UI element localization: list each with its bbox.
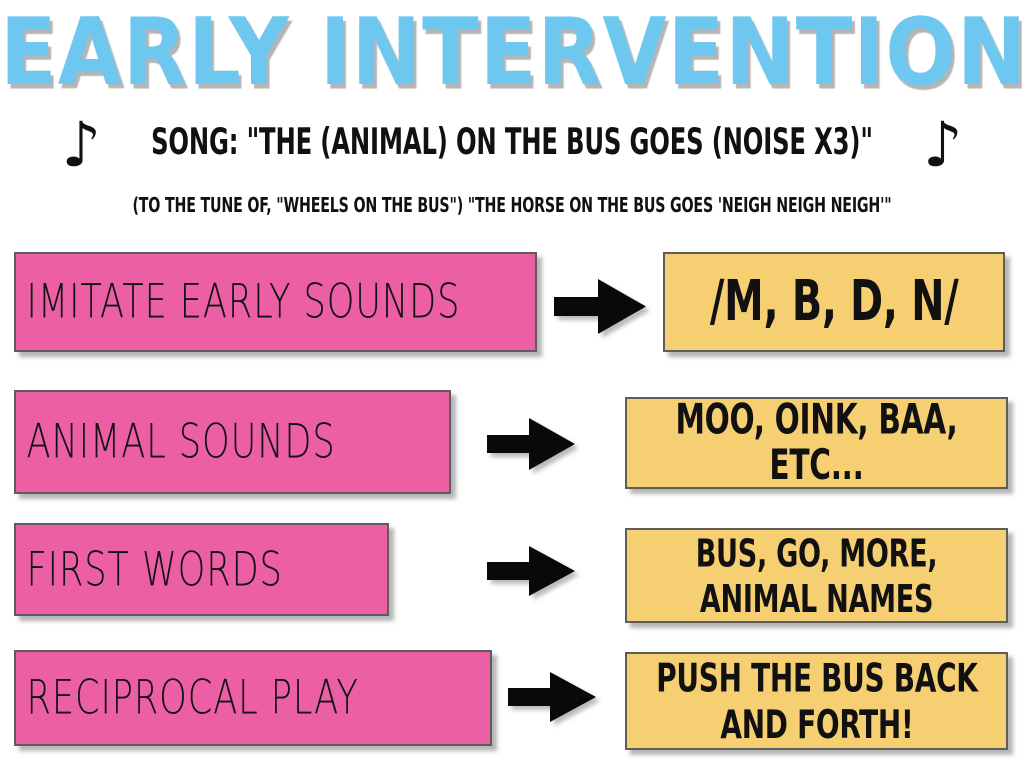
skill-box: ANIMAL SOUNDS xyxy=(14,390,451,494)
poster-header: EARLY INTERVENTION ♪ SONG: "THE (ANIMAL)… xyxy=(0,0,1024,240)
target-box: MOO, OINK, BAA, ETC... xyxy=(625,397,1008,489)
target-label: PUSH THE BUS BACK AND FORTH! xyxy=(656,654,977,748)
song-line: ♪ SONG: "THE (ANIMAL) ON THE BUS GOES (N… xyxy=(0,112,1024,174)
target-box: PUSH THE BUS BACK AND FORTH! xyxy=(625,652,1008,750)
arrow-right-icon xyxy=(508,672,596,722)
page-title: EARLY INTERVENTION xyxy=(0,1,1024,104)
arrow-right-icon xyxy=(487,546,575,596)
skill-label: FIRST WORDS xyxy=(16,545,283,595)
goal-row: ANIMAL SOUNDS MOO, OINK, BAA, ETC... xyxy=(0,390,1024,500)
goal-row: RECIPROCAL PLAY PUSH THE BUS BACK AND FO… xyxy=(0,650,1024,755)
target-box: /M, B, D, N/ xyxy=(663,252,1005,352)
skill-box: FIRST WORDS xyxy=(14,523,389,616)
target-box: BUS, GO, MORE, ANIMAL NAMES xyxy=(625,528,1008,623)
goal-row: FIRST WORDS BUS, GO, MORE, ANIMAL NAMES xyxy=(0,523,1024,628)
target-label: MOO, OINK, BAA, ETC... xyxy=(638,397,994,488)
goal-row: IMITATE EARLY SOUNDS /M, B, D, N/ xyxy=(0,252,1024,362)
skill-label: IMITATE EARLY SOUNDS xyxy=(16,277,460,327)
music-note-icon: ♪ xyxy=(61,114,101,176)
skill-box: RECIPROCAL PLAY xyxy=(14,650,492,746)
skill-label: RECIPROCAL PLAY xyxy=(16,673,359,723)
target-label: /M, B, D, N/ xyxy=(710,272,959,332)
arrow-right-icon xyxy=(554,279,646,334)
skill-box: IMITATE EARLY SOUNDS xyxy=(14,252,537,352)
skill-label: ANIMAL SOUNDS xyxy=(16,417,336,467)
arrow-right-icon xyxy=(487,418,575,470)
music-note-icon: ♪ xyxy=(923,114,963,176)
song-title-text: SONG: "THE (ANIMAL) ON THE BUS GOES (NOI… xyxy=(151,122,873,163)
target-label: BUS, GO, MORE, ANIMAL NAMES xyxy=(696,530,938,621)
song-tune-note: (TO THE TUNE OF, "WHEELS ON THE BUS") "T… xyxy=(36,194,988,219)
